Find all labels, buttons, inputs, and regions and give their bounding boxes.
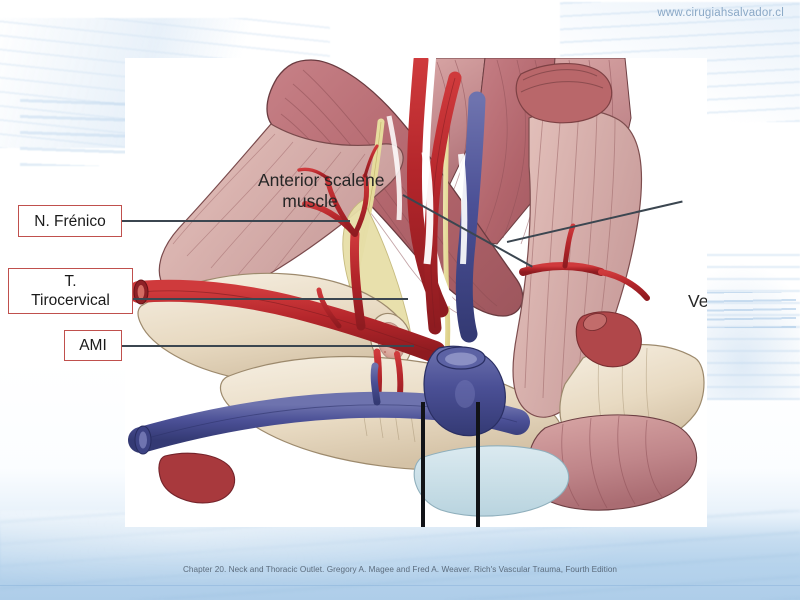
label-anterior-scalene-muscle: Anterior scalene muscle xyxy=(258,170,384,212)
callout-line-frenico xyxy=(122,220,350,222)
anatomy-illustration xyxy=(125,58,707,527)
callout-box-tirocervical[interactable]: T.Tirocervical xyxy=(8,268,133,314)
slide-background: www.cirugiahsalvador.cl xyxy=(0,0,800,600)
label-vertebral-artery: Vertebral artery xyxy=(688,291,707,312)
callout-line-tirocervical xyxy=(133,298,408,300)
zone-divider-right xyxy=(476,402,480,527)
zone-divider-left xyxy=(421,402,425,527)
site-url: www.cirugiahsalvador.cl xyxy=(657,7,784,19)
callout-line-ami xyxy=(122,345,414,347)
footer-hairline xyxy=(0,585,800,586)
figure-panel: Anterior scalene muscle Vertebral artery… xyxy=(125,58,707,527)
source-caption: Chapter 20. Neck and Thoracic Outlet. Gr… xyxy=(0,565,800,574)
callout-box-ami[interactable]: AMI xyxy=(64,330,122,361)
callout-box-frenico[interactable]: N. Frénico xyxy=(18,205,122,237)
